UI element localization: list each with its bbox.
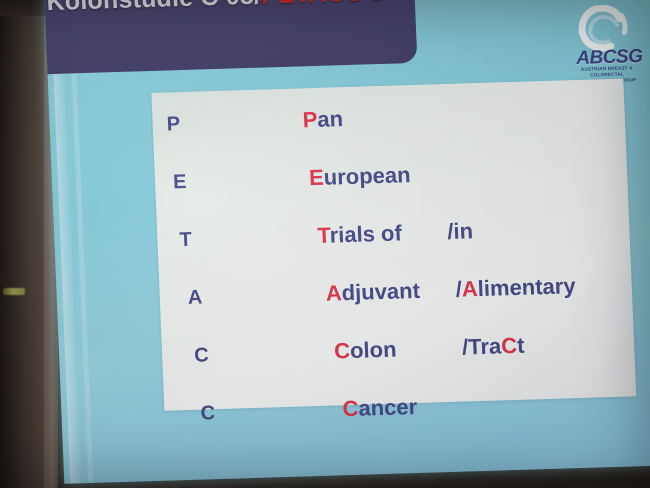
acronym-word-initial: P: [302, 107, 318, 132]
projection-room: Kolonstudie C 05/PETACC 8 COLORECTAL TAS…: [0, 0, 650, 488]
acronym-word-initial: C: [334, 338, 351, 363]
acronym-row: T Trials of /in: [156, 200, 630, 266]
acronym-word: Trials of: [317, 220, 402, 249]
acronym-letter: A: [187, 286, 202, 309]
acronym-word-rest: djuvant: [341, 278, 420, 305]
acronym-alternate-rest: t: [517, 333, 525, 358]
slide-title-plain: Kolonstudie C 05/: [46, 0, 262, 16]
acronym-row: E European: [154, 142, 628, 208]
slide-title-highlight: PETACC 8: [260, 0, 384, 10]
acronym-alternate: /Alimentary: [455, 273, 576, 303]
acronym-alternate-prefix: /Tra: [462, 333, 502, 359]
slide-title-band: Kolonstudie C 05/PETACC 8: [44, 0, 418, 75]
presentation-slide: Kolonstudie C 05/PETACC 8 COLORECTAL TAS…: [44, 0, 650, 484]
acronym-letter: T: [179, 228, 192, 251]
acronym-word-rest: an: [317, 106, 344, 132]
acronym-alternate: /in: [447, 218, 474, 245]
acronym-alternate-text: /in: [447, 218, 474, 244]
acronym-row: C Cancer: [164, 374, 638, 440]
room-wall-left: [0, 0, 46, 488]
acronym-word: Adjuvant: [325, 278, 420, 307]
acronym-row: A Adjuvant /Alimentary: [159, 258, 633, 324]
acronym-alternate-initial: C: [501, 333, 518, 358]
acronym-letter: C: [194, 344, 209, 367]
acronym-word: European: [309, 162, 412, 191]
acronym-word: Cancer: [342, 394, 418, 422]
acronym-word-initial: A: [325, 280, 342, 305]
acronym-letter: E: [173, 170, 187, 193]
acronym-alternate-initial: A: [461, 276, 478, 301]
acronym-word-rest: uropean: [323, 162, 411, 190]
acronym-word-rest: olon: [350, 337, 397, 363]
acronym-letter: C: [200, 402, 215, 425]
acronym-word-rest: ancer: [358, 394, 418, 421]
acronym-word-rest: rials of: [329, 220, 402, 247]
indicator-light: [3, 288, 25, 295]
acronym-alternate: /TraCt: [462, 333, 525, 361]
slide-title: Kolonstudie C 05/PETACC 8: [46, 0, 385, 17]
acronym-panel: P Pan E European T Trials of /in A: [151, 79, 636, 411]
abcsg-logo: ABCSG AUSTRIAN BREAST & COLORECTAL CANCE…: [561, 4, 650, 85]
acronym-row: C Colon /TraCt: [161, 316, 635, 382]
acronym-word: Pan: [302, 106, 343, 133]
acronym-letter: P: [166, 113, 180, 136]
projection-screen: Kolonstudie C 05/PETACC 8 COLORECTAL TAS…: [44, 0, 650, 484]
acronym-word-initial: E: [309, 165, 325, 190]
acronym-word: Colon: [334, 337, 397, 365]
acronym-alternate-rest: limentary: [477, 273, 576, 301]
acronym-word-initial: C: [342, 396, 359, 421]
acronym-row: P Pan: [152, 85, 626, 151]
acronym-rows: P Pan E European T Trials of /in A: [151, 79, 636, 411]
